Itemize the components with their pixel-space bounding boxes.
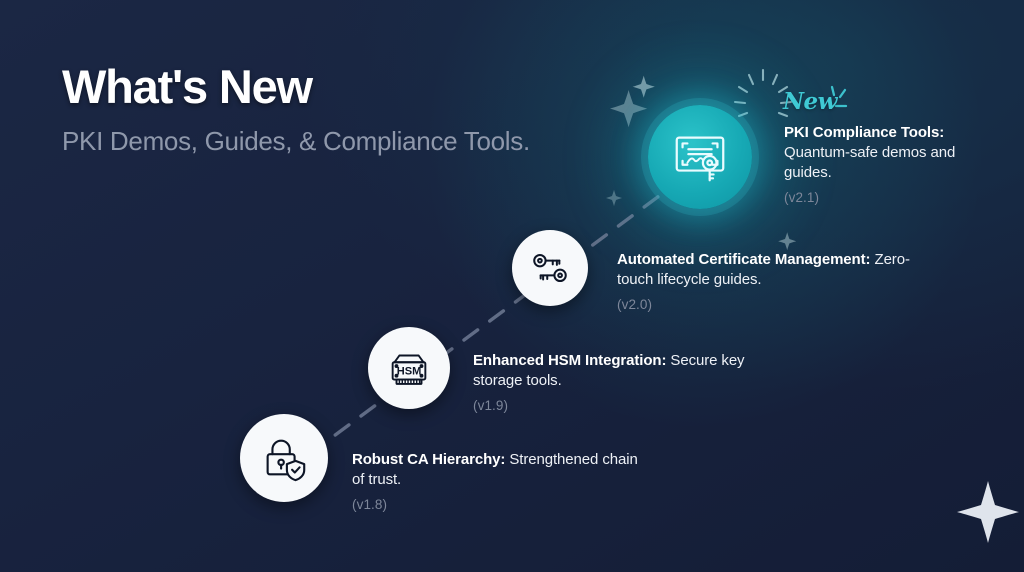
- lock-shield-icon-bubble[interactable]: [240, 414, 328, 502]
- item-version: (v1.8): [352, 497, 642, 512]
- hsm-module-icon: HSM: [384, 343, 434, 393]
- item-description: Quantum-safe demos and guides.: [784, 144, 955, 181]
- item-copy-enhanced-hsm-integration: Enhanced HSM Integration: Secure key sto…: [473, 351, 759, 413]
- svg-text:HSM: HSM: [397, 366, 422, 378]
- item-title: Automated Certificate Management:: [617, 251, 870, 268]
- slide-canvas: What's New PKI Demos, Guides, & Complian…: [0, 0, 1024, 572]
- hsm-module-icon-bubble[interactable]: HSM: [368, 327, 450, 409]
- certificate-key-icon-bubble[interactable]: [648, 105, 752, 209]
- certificate-key-icon: [669, 126, 731, 188]
- two-keys-icon-bubble[interactable]: [512, 230, 588, 306]
- item-copy-automated-certificate-management: Automated Certificate Management: Zero-t…: [617, 250, 917, 312]
- item-title: Enhanced HSM Integration:: [473, 352, 666, 369]
- heading-block: What's New PKI Demos, Guides, & Complian…: [62, 62, 530, 157]
- item-version: (v2.1): [784, 190, 996, 205]
- page-title: What's New: [62, 62, 530, 113]
- new-badge: New: [783, 88, 837, 115]
- item-version: (v2.0): [617, 297, 917, 312]
- two-keys-icon: [528, 246, 572, 290]
- item-title: PKI Compliance Tools:: [784, 124, 944, 141]
- item-copy-robust-ca-hierarchy: Robust CA Hierarchy: Strengthened chain …: [352, 450, 642, 512]
- item-version: (v1.9): [473, 398, 759, 413]
- page-subtitle: PKI Demos, Guides, & Compliance Tools.: [62, 126, 530, 157]
- item-text: Robust CA Hierarchy: Strengthened chain …: [352, 450, 642, 490]
- lock-shield-icon: [258, 432, 310, 484]
- item-text: Enhanced HSM Integration: Secure key sto…: [473, 351, 759, 391]
- item-title: Robust CA Hierarchy:: [352, 451, 505, 468]
- item-text: Automated Certificate Management: Zero-t…: [617, 250, 917, 290]
- four-point-star-icon: [957, 481, 1019, 543]
- item-copy-pki-compliance-tools: PKI Compliance Tools: Quantum-safe demos…: [784, 123, 996, 205]
- item-text: PKI Compliance Tools: Quantum-safe demos…: [784, 123, 996, 183]
